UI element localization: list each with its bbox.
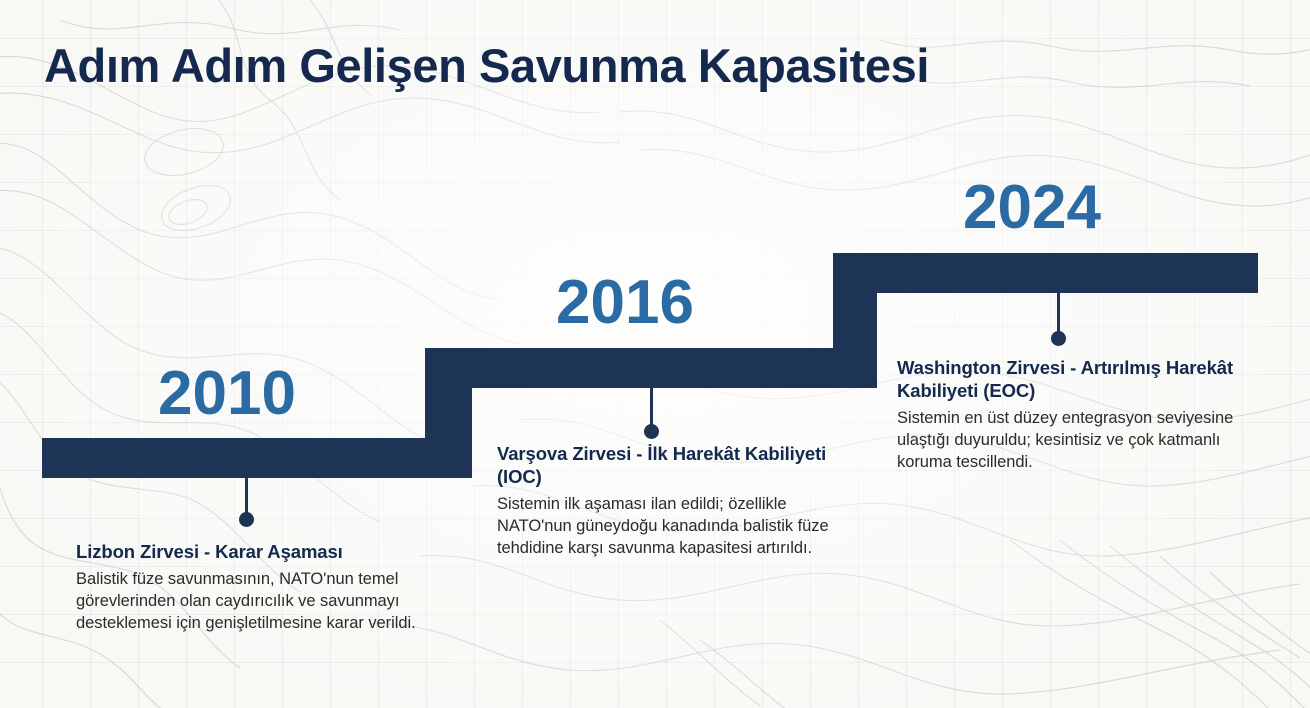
connector-dot: [239, 512, 254, 527]
year-label-2016: 2016: [556, 272, 694, 334]
entry-body: Balistik füze savunmasının, NATO'nun tem…: [76, 569, 441, 635]
year-label-2010: 2010: [158, 363, 296, 425]
connector-dot: [1051, 331, 1066, 346]
infographic-canvas: Adım Adım Gelişen Savunma Kapasitesi 201…: [0, 0, 1310, 708]
entry-heading: Lizbon Zirvesi - Karar Aşaması: [76, 541, 441, 564]
entry-body: Sistemin ilk aşaması ilan edildi; özelli…: [497, 494, 847, 560]
timeline-entry-2024: Washington Zirvesi - Artırılmış Harekât …: [897, 357, 1252, 474]
step-bar-2010: [42, 438, 472, 478]
entry-body: Sistemin en üst düzey entegrasyon seviye…: [897, 408, 1252, 474]
entry-heading: Washington Zirvesi - Artırılmış Harekât …: [897, 357, 1252, 403]
step-bar-2016: [425, 348, 877, 388]
step-bar-2024: [833, 253, 1258, 293]
timeline-entry-2010: Lizbon Zirvesi - Karar Aşaması Balistik …: [76, 541, 441, 635]
timeline-entry-2016: Varşova Zirvesi - İlk Harekât Kabiliyeti…: [497, 443, 847, 560]
entry-heading: Varşova Zirvesi - İlk Harekât Kabiliyeti…: [497, 443, 847, 489]
year-label-2024: 2024: [963, 177, 1101, 239]
connector-dot: [644, 424, 659, 439]
